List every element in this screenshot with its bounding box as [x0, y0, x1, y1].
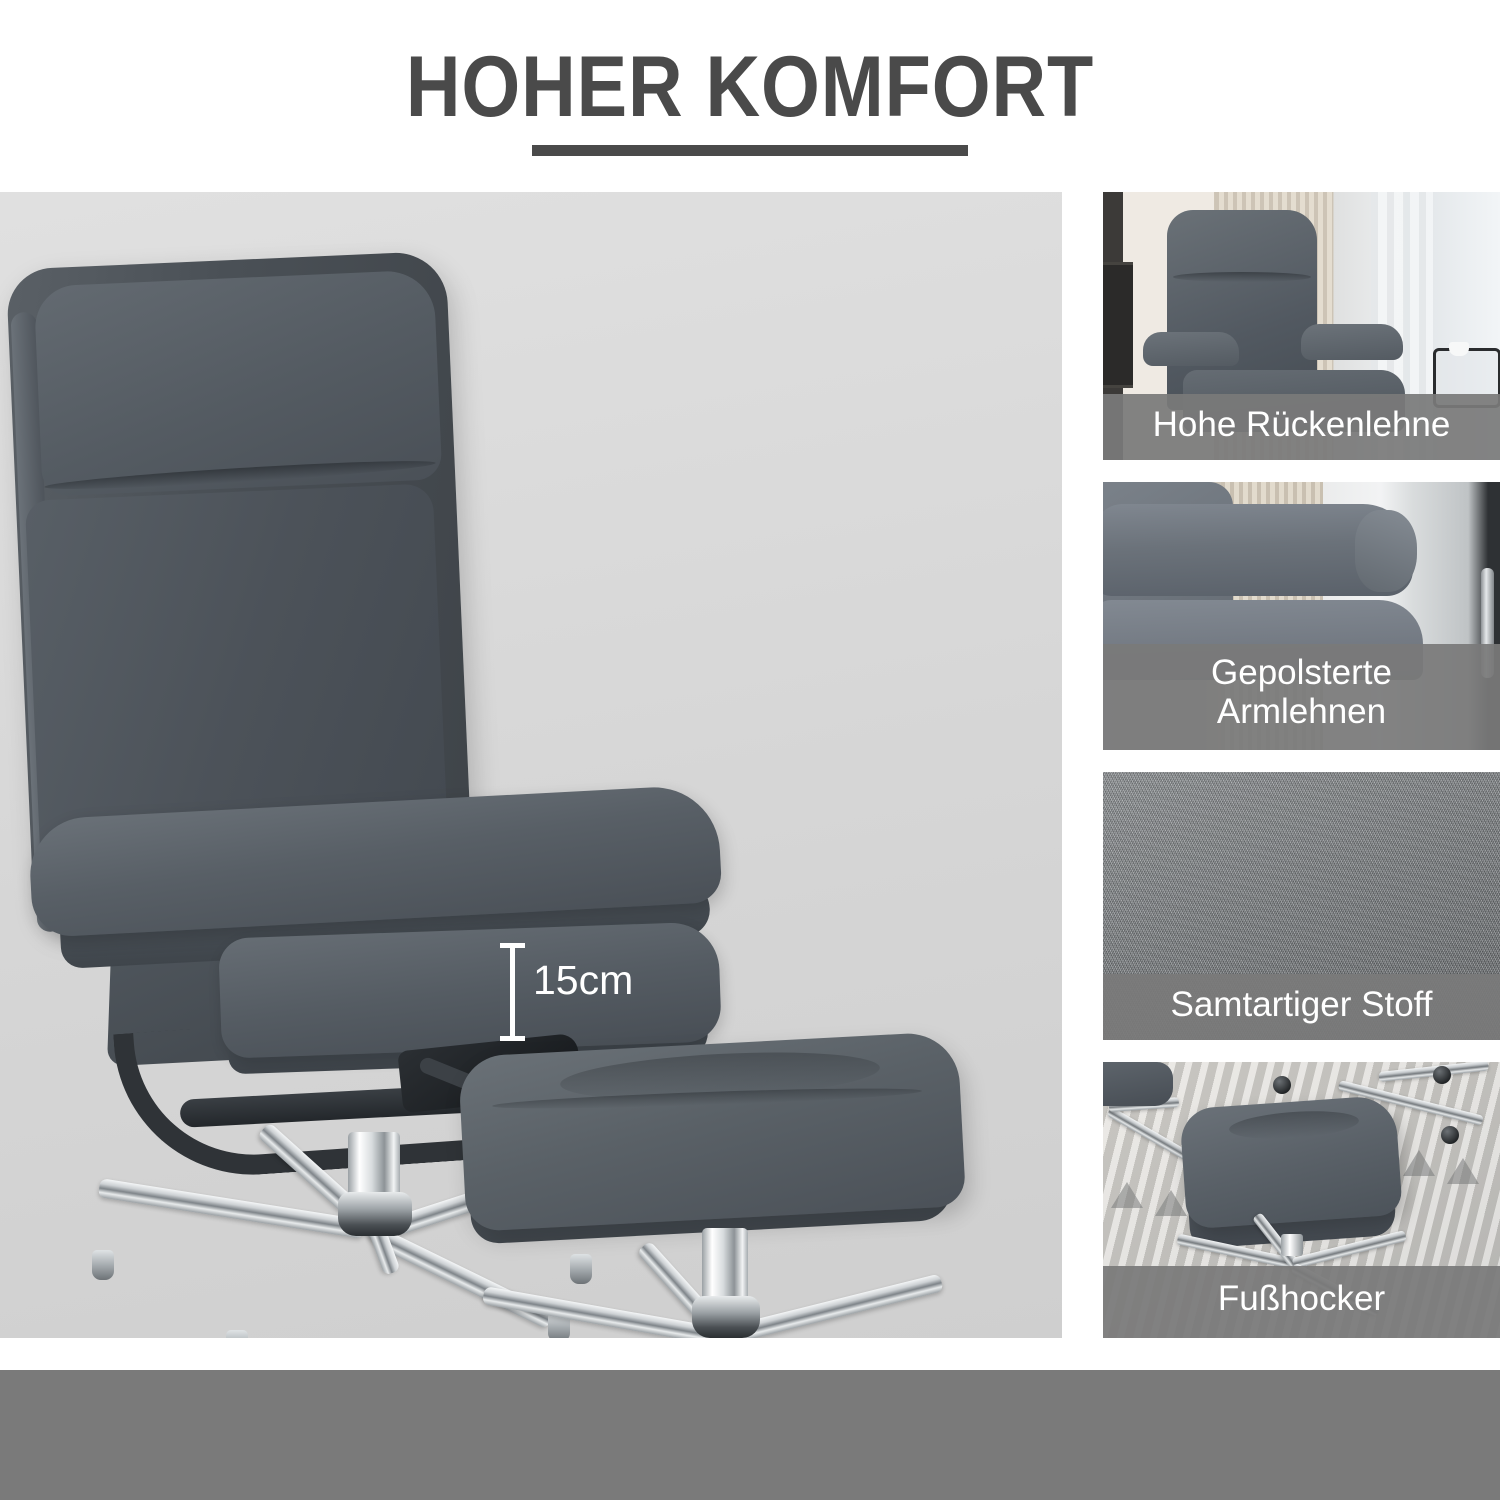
- hero-product-panel: 15cm: [0, 192, 1062, 1338]
- chair-base-leg: [376, 1229, 555, 1329]
- rug-triangle-motif: [1447, 1158, 1479, 1184]
- feature-caption-0: Hohe Rückenlehne: [1103, 394, 1500, 460]
- chair-leg-foot-cap: [570, 1254, 592, 1284]
- chair-armrest-right: [1301, 324, 1403, 360]
- footstool-chrome-column: [1281, 1234, 1303, 1256]
- ottoman-base-leg: [728, 1274, 944, 1338]
- feature-caption-1-line-1: Gepolsterte: [1103, 653, 1500, 692]
- coffee-cup: [1449, 342, 1469, 356]
- dimension-cap-bottom-icon: [500, 1036, 525, 1041]
- dimension-line-icon: [510, 945, 515, 1039]
- feature-card-samtartiger-stoff[interactable]: Samtartiger Stoff: [1103, 772, 1500, 1040]
- feature-card-hohe-rueckenlehne[interactable]: Hohe Rückenlehne: [1103, 192, 1500, 460]
- armrest-rolled-end: [1355, 510, 1417, 592]
- black-shelf-unit: [1103, 262, 1133, 388]
- bottom-accent-bar: [0, 1370, 1500, 1500]
- rug-triangle-motif: [1155, 1190, 1187, 1216]
- rug-triangle-motif: [1403, 1150, 1435, 1176]
- rug-triangle-motif: [1111, 1182, 1143, 1208]
- chair-armrest-left: [1143, 332, 1239, 366]
- feature-card-column: Hohe Rückenlehne Gepolsterte Armlehnen S…: [1103, 192, 1500, 1338]
- dimension-label: 15cm: [533, 957, 633, 1004]
- chair-base-hub: [338, 1192, 412, 1236]
- feature-caption-1-line-2: Armlehnen: [1103, 692, 1500, 731]
- chair-backrest-seam: [1173, 272, 1311, 282]
- page-header: HOHER KOMFORT: [0, 0, 1500, 192]
- feature-caption-2: Samtartiger Stoff: [1103, 974, 1500, 1040]
- chair-leg-foot-cap: [92, 1250, 114, 1280]
- feature-caption-3: Fußhocker: [1103, 1266, 1500, 1338]
- caster-icon: [1441, 1126, 1459, 1144]
- feature-card-fusshocker[interactable]: Fußhocker: [1103, 1062, 1500, 1338]
- page-title: HOHER KOMFORT: [90, 38, 1410, 137]
- chair-leg-foot-cap: [226, 1330, 248, 1338]
- ottoman-base-hub: [692, 1296, 760, 1338]
- hero-product-photo: 15cm: [0, 192, 1062, 1338]
- title-underline-rule: [532, 145, 968, 156]
- chair-seat-corner: [1103, 1062, 1173, 1106]
- dimension-annotation: 15cm: [500, 937, 680, 1047]
- caster-icon: [1433, 1066, 1451, 1084]
- feature-card-gepolsterte-armlehnen[interactable]: Gepolsterte Armlehnen: [1103, 482, 1500, 750]
- feature-caption-1: Gepolsterte Armlehnen: [1103, 644, 1500, 750]
- caster-icon: [1273, 1076, 1291, 1094]
